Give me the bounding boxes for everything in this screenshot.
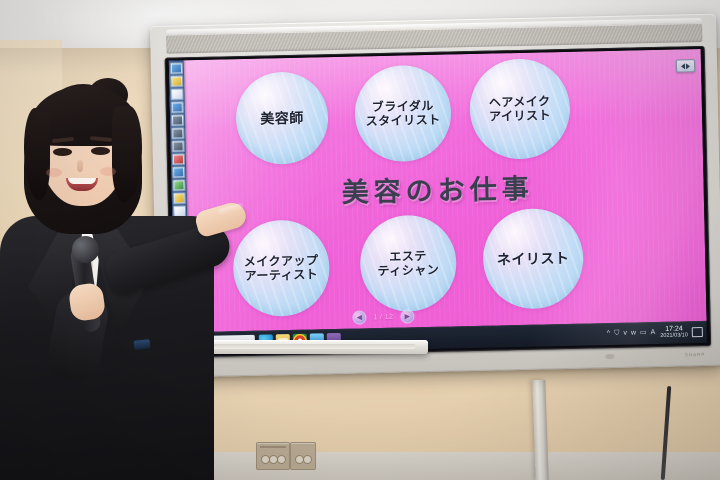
bubble-label: ヘアメイク アイリスト	[489, 94, 552, 124]
name-badge	[134, 339, 151, 350]
screen-toggle-widget[interactable]	[676, 59, 695, 72]
screenshot-scene: 美容師 ブライダル スタイリスト ヘアメイク アイリスト 美容のお仕事	[0, 0, 720, 480]
bubble-hair-make-artist[interactable]: ヘアメイク アイリスト	[469, 58, 571, 160]
slide-title: 美容のお仕事	[171, 163, 704, 214]
nose	[77, 160, 83, 172]
cheek-right	[100, 167, 116, 176]
show-hidden-icons-icon[interactable]: ^	[607, 331, 610, 338]
presentation-slide[interactable]: 美容師 ブライダル スタイリスト ヘアメイク アイリスト 美容のお仕事	[169, 49, 707, 333]
bubble-beautician[interactable]: 美容師	[235, 71, 329, 165]
teeth	[68, 178, 96, 184]
slide-navigation-controls[interactable]: ◀ 1 / 12 ▶	[352, 306, 532, 326]
previous-slide-button[interactable]: ◀	[352, 310, 366, 324]
volume-icon[interactable]: ᴡ	[631, 330, 636, 337]
display-brand-label: SHARP	[685, 352, 706, 357]
clock-date: 2021/03/10	[660, 333, 688, 339]
system-tray[interactable]: ^ ⛉ ᴠ ᴡ ▭ A 17:24 2021/03/10	[607, 325, 707, 340]
bubble-bridal-stylist[interactable]: ブライダル スタイリスト	[354, 64, 452, 162]
clock[interactable]: 17:24 2021/03/10	[660, 326, 688, 340]
ime-icon[interactable]: A	[651, 330, 656, 337]
bubble-label: 美容師	[260, 109, 304, 126]
save-icon[interactable]	[170, 62, 183, 74]
cheek-left	[46, 168, 62, 177]
battery-icon[interactable]: ▭	[640, 330, 647, 337]
security-icon[interactable]: ⛉	[614, 330, 619, 337]
bubble-label: メイクアップ アーティスト	[244, 253, 319, 283]
wall-outlet-right	[290, 442, 316, 470]
ir-sensor	[605, 354, 614, 359]
interactive-whiteboard-display[interactable]: 美容師 ブライダル スタイリスト ヘアメイク アイリスト 美容のお仕事	[150, 14, 720, 386]
bubble-esthetician[interactable]: エステ ティシャン	[359, 214, 457, 312]
eye-right	[91, 147, 110, 155]
bubble-nailist[interactable]: ネイリスト	[482, 208, 584, 310]
outlet-label-strip	[260, 446, 286, 448]
bubble-label: ブライダル スタイリスト	[365, 99, 441, 129]
screen-frame: 美容師 ブライダル スタイリスト ヘアメイク アイリスト 美容のお仕事	[165, 46, 711, 358]
eye-left	[53, 148, 72, 156]
notifications-icon[interactable]	[692, 327, 703, 337]
wall-outlet-left	[256, 442, 290, 470]
bubble-label: エステ ティシャン	[377, 249, 439, 279]
bubble-makeup-artist[interactable]: メイクアップ アーティスト	[232, 219, 330, 317]
screen[interactable]: 美容師 ブライダル スタイリスト ヘアメイク アイリスト 美容のお仕事	[169, 49, 707, 355]
chevron-left-icon	[681, 63, 685, 69]
chevron-right-icon	[686, 63, 690, 69]
presenter	[0, 78, 230, 480]
slide-counter: 1 / 12	[373, 313, 393, 320]
network-icon[interactable]: ᴠ	[623, 330, 627, 337]
next-slide-button[interactable]: ▶	[400, 309, 414, 323]
bubble-label: ネイリスト	[497, 250, 570, 268]
